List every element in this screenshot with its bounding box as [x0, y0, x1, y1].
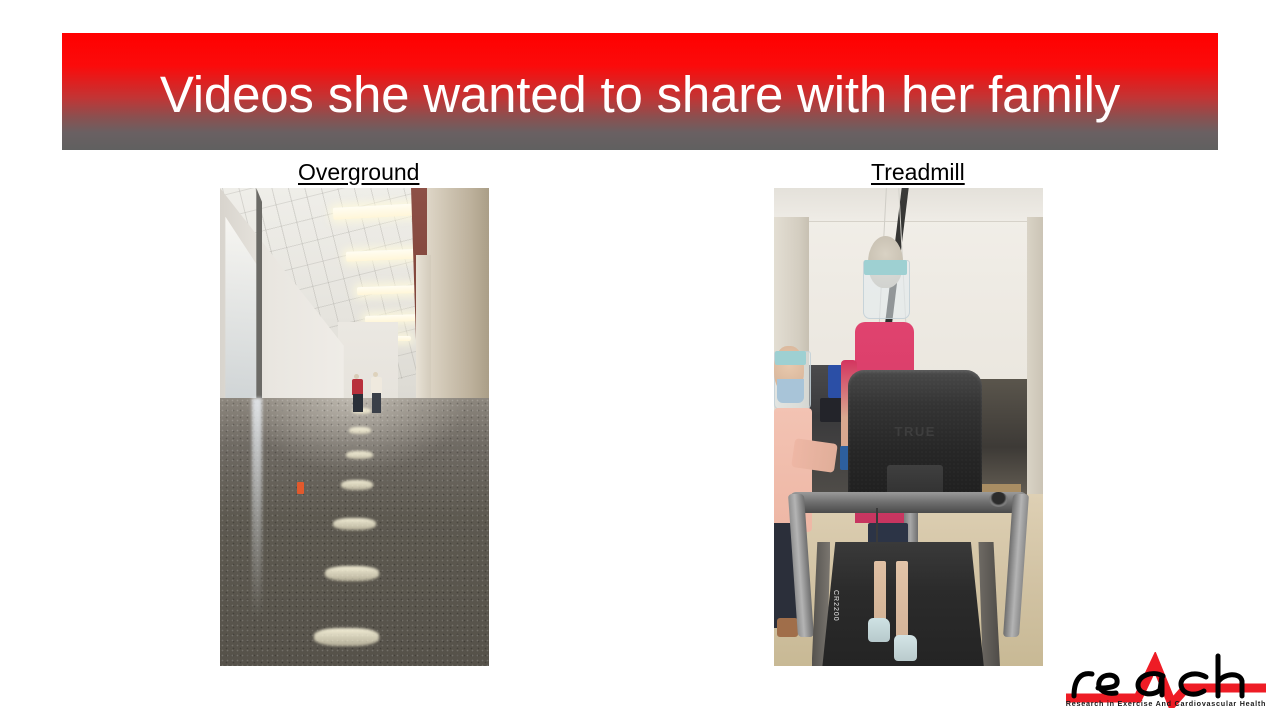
person-torso [371, 377, 382, 394]
participant-leg-right [896, 561, 908, 637]
reach-logo-tagline: Research in Exercise And Cardiovascular … [1060, 699, 1272, 708]
participant-shoe-left [868, 618, 890, 642]
person-legs [353, 394, 363, 412]
overground-hallway-photo[interactable] [220, 188, 489, 666]
researcher-sandal [777, 618, 799, 637]
floor-light-reflection [325, 566, 379, 581]
treadmill-walking-photo[interactable]: TRUE CR2200 [774, 188, 1043, 666]
person-legs [372, 393, 381, 413]
treadmill-brand-label: TRUE [848, 417, 983, 446]
floor-light-reflection [349, 427, 371, 434]
lab-ceiling [774, 188, 1043, 222]
page-title: Videos she wanted to share with her fami… [160, 69, 1120, 120]
floor-light-reflection [314, 628, 379, 646]
floor-marker-cone [297, 482, 304, 494]
slide-title-banner: Videos she wanted to share with her fami… [62, 33, 1218, 150]
researcher-face-mask [777, 379, 804, 403]
column-label-overground: Overground [298, 159, 419, 186]
participant-shoe-right [894, 635, 917, 661]
heartbeat-line-icon [1066, 662, 1266, 704]
column-label-treadmill: Treadmill [871, 159, 965, 186]
participant-shield-headband [864, 260, 907, 275]
treadmill-cupholder [989, 492, 1008, 507]
floor-light-reflection [333, 518, 376, 530]
floor-light-reflection [341, 480, 373, 491]
person-torso [352, 379, 363, 395]
floor-window-streak [252, 398, 261, 618]
researcher-shield-headband [775, 351, 806, 365]
treadmill-model-label: CR2200 [832, 590, 839, 622]
lab-column-right [1027, 217, 1043, 513]
